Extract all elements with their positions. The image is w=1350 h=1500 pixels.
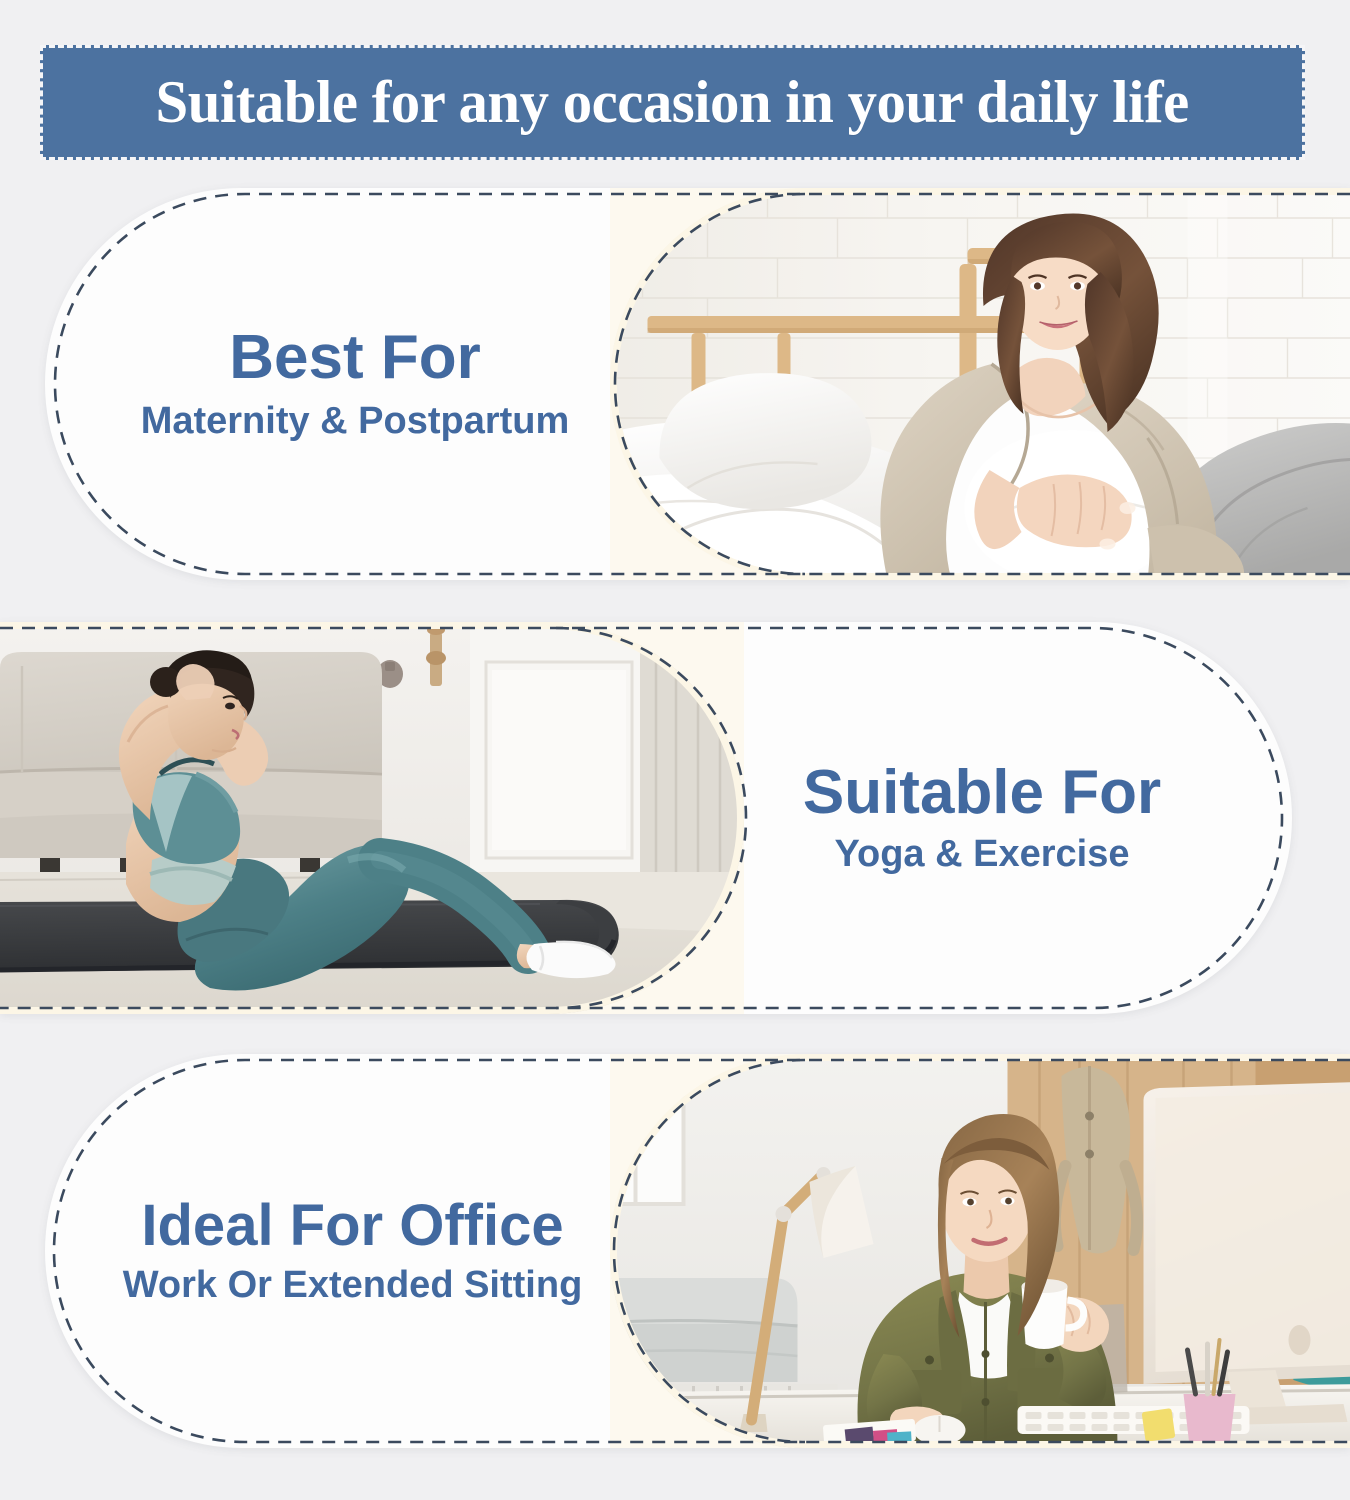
card-2-photo-frame [0, 622, 744, 1014]
card-3-text-panel: Ideal For Office Work Or Extended Sittin… [80, 1054, 625, 1448]
card-2-subline: Yoga & Exercise [834, 835, 1129, 875]
pregnant-woman-resting-in-bed-photo [610, 188, 1350, 580]
card-2-text-panel: Suitable For Yoga & Exercise [702, 622, 1262, 1014]
card-3-photo-clip [610, 1054, 1350, 1448]
card-3-headline: Ideal For Office [141, 1196, 563, 1256]
card-2-headline: Suitable For [803, 761, 1161, 825]
card-1-text-panel: Best For Maternity & Postpartum [85, 188, 625, 580]
card-2-photo-clip [0, 622, 744, 1014]
card-3-subline: Work Or Extended Sitting [123, 1266, 583, 1306]
woman-at-desk-with-coffee-photo [610, 1054, 1350, 1448]
card-1-subline: Maternity & Postpartum [141, 402, 570, 442]
woman-doing-situps-on-yoga-mat-photo [0, 622, 744, 1014]
card-1-photo-clip [610, 188, 1350, 580]
page-title: Suitable for any occasion in your daily … [156, 68, 1189, 137]
occasion-card-maternity: Best For Maternity & Postpartum [45, 188, 1350, 580]
occasion-card-office: Ideal For Office Work Or Extended Sittin… [45, 1054, 1350, 1448]
page-header-banner: Suitable for any occasion in your daily … [40, 45, 1305, 160]
card-3-photo-frame [610, 1054, 1350, 1448]
occasion-card-yoga: Suitable For Yoga & Exercise [0, 622, 1292, 1014]
card-1-headline: Best For [229, 326, 480, 390]
card-1-photo-frame [610, 188, 1350, 580]
